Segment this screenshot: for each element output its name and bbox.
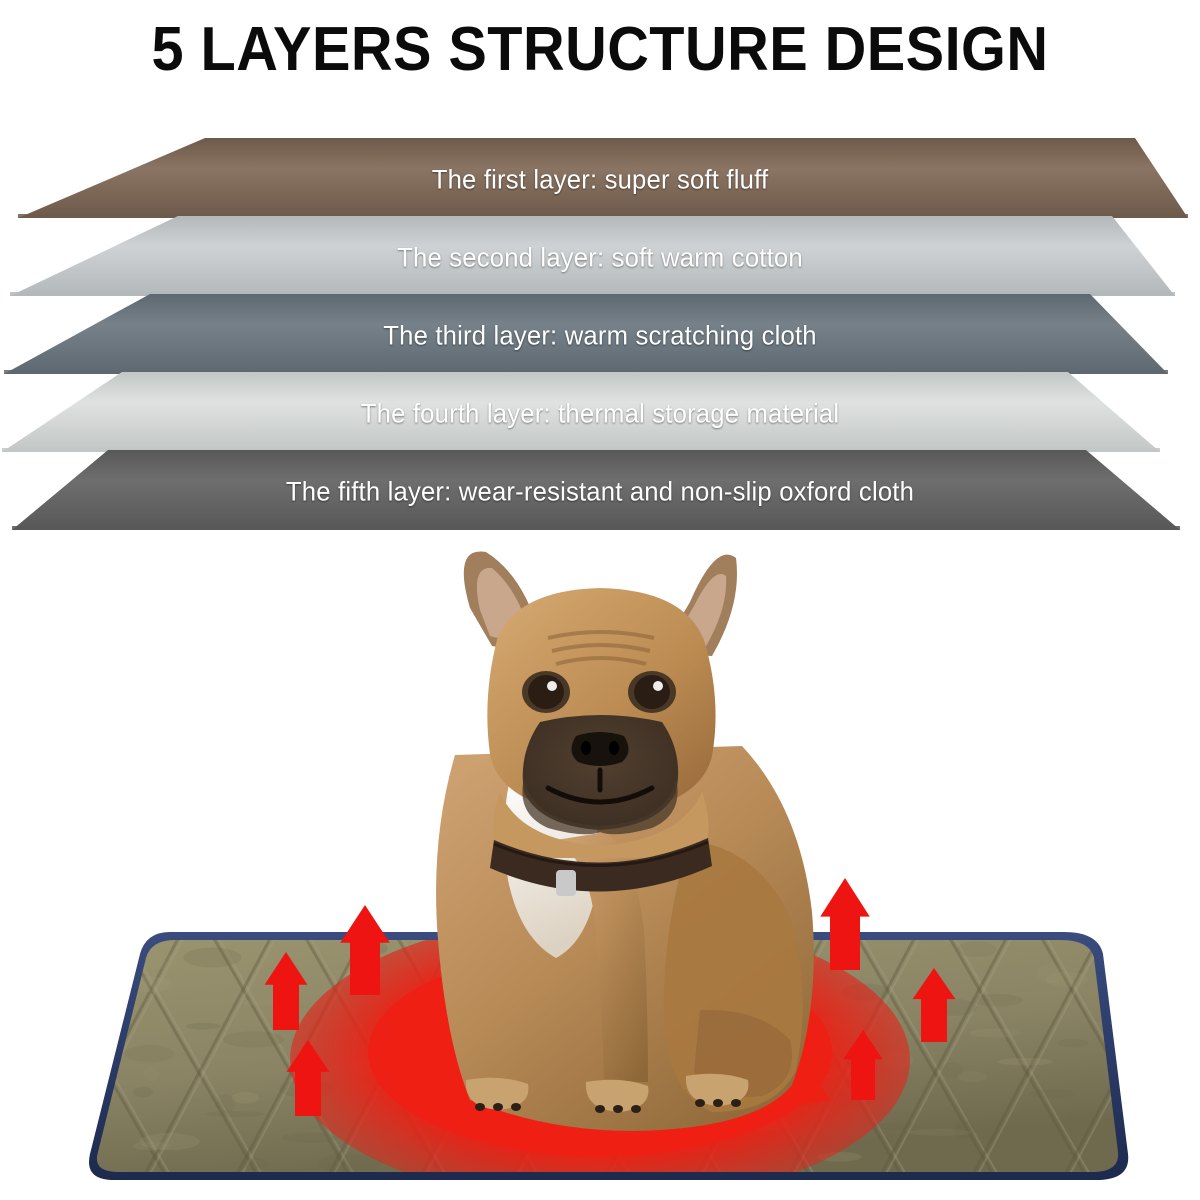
dog-claw	[595, 1105, 605, 1113]
dog-nose	[571, 732, 628, 766]
dog-eye	[634, 675, 670, 709]
product-photo	[0, 540, 1200, 1200]
layer-label-3: The third layer: warm scratching cloth	[30, 321, 1170, 352]
french-bulldog	[436, 551, 814, 1130]
layer-row-4: The fourth layer: thermal storage materi…	[0, 372, 1200, 456]
dog-eye-highlight	[653, 681, 663, 691]
dog-claw	[713, 1099, 723, 1107]
dog-collar-buckle	[556, 870, 576, 896]
dog-nostril	[609, 741, 619, 755]
infographic-page: 5 LAYERS STRUCTURE DESIGN The first laye…	[0, 0, 1200, 1200]
dog-claw	[631, 1105, 641, 1113]
page-title: 5 LAYERS STRUCTURE DESIGN	[42, 14, 1158, 85]
layer-row-1: The first layer: super soft fluff	[0, 138, 1200, 222]
dog-claw	[695, 1099, 705, 1107]
layer-stack: The first layer: super soft fluff The se…	[0, 138, 1200, 538]
layer-label-5: The fifth layer: wear-resistant and non-…	[30, 477, 1170, 508]
dog-nostril	[581, 741, 591, 755]
layer-label-4: The fourth layer: thermal storage materi…	[30, 399, 1170, 430]
dog-eye-highlight	[547, 681, 557, 691]
dog-claw	[613, 1105, 623, 1113]
layer-label-1: The first layer: super soft fluff	[30, 165, 1170, 196]
layer-row-5: The fifth layer: wear-resistant and non-…	[0, 450, 1200, 534]
dog-claw	[731, 1099, 741, 1107]
dog-claw	[511, 1103, 521, 1111]
dog-eye	[528, 675, 564, 709]
layer-row-3: The third layer: warm scratching cloth	[0, 294, 1200, 378]
photo-graphic	[0, 540, 1200, 1200]
dog-claw	[475, 1103, 485, 1111]
dog-claw	[493, 1103, 503, 1111]
layer-label-2: The second layer: soft warm cotton	[30, 243, 1170, 274]
layer-row-2: The second layer: soft warm cotton	[0, 216, 1200, 300]
